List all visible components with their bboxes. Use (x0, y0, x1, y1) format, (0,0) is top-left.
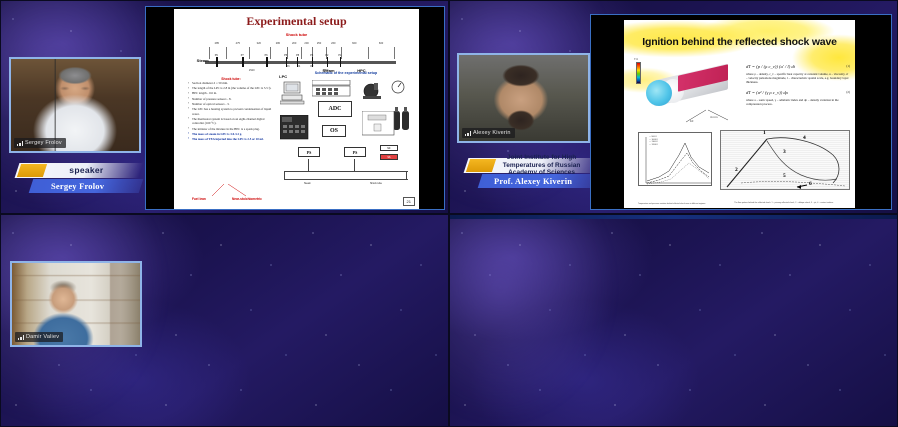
panel-top-right[interactable]: Alexey Kiverin Joint Institute for High … (449, 0, 898, 214)
control-unit-icon (362, 111, 396, 137)
signal-strength-icon (17, 141, 24, 146)
shock-structure-lines (721, 131, 851, 191)
panel-bottom-left[interactable]: Damir Valiev Tsinghua University Prof. D… (0, 214, 449, 427)
svg-text:4 mm: 4 mm (710, 115, 718, 119)
nameplate-speaker-1: speaker Sergey Frolov (17, 163, 141, 193)
list-item: Number of pressure sensors - 8. (188, 97, 274, 102)
starfield-background (450, 215, 897, 426)
equation-2: dT = (a² / (γ ρ c_v)) dρ (746, 90, 788, 95)
nameplate-gold-chip (466, 159, 496, 172)
list-item: The mass of TEA injected into the LPC is… (188, 137, 274, 142)
screen-share-2[interactable]: Ignition behind the reflected shock wave… (590, 14, 892, 210)
webcam-name-label: Damir Valiev (15, 332, 63, 342)
slide-title: Ignition behind the reflected shock wave (624, 36, 855, 48)
figure-note-left: Temperature and pressure variation behin… (638, 203, 712, 205)
dimension-ticks: 285 475 320 280 200 200 250 260 600 600 (205, 47, 396, 59)
equations-block: dT = (p / (ρ c_v)) (u′ / l) dt (1) where… (746, 64, 850, 106)
webcam-label-text: Alexey Kiverin (473, 130, 511, 136)
vacuum-pump-icon (362, 80, 384, 100)
marker-2: 2 (735, 167, 738, 173)
nameplate-affiliation: speaker (50, 167, 141, 175)
screen-share-1[interactable]: Experimental setup Shock tube 285 475 32… (145, 6, 445, 210)
equation-2-number: (2) (846, 90, 850, 94)
signal-strength-icon (18, 335, 25, 340)
slide-ignition-reflected-shock: Ignition behind the reflected shock wave… (624, 20, 855, 208)
webcam-label-text: Damir Valiev (26, 334, 59, 340)
schlieren-image: 1 2 3 4 5 6 (720, 130, 850, 190)
sc-box: SC (380, 145, 398, 151)
tube-axis (205, 61, 396, 64)
list-item: The mass of steam in LPC is 3.0-3.2 g. (188, 132, 274, 137)
nameplate-name: Sergey Frolov (51, 181, 104, 191)
video-conference-grid: Sergey Frolov speaker Sergey Frolov Expe… (0, 0, 898, 427)
adc-box: ADC (318, 101, 352, 117)
bullet-list: Section diameter d = 50 mm. The length o… (188, 81, 274, 141)
equation-1-where: where ρ – density, c_v – specific heat c… (746, 72, 850, 85)
controller-panel-icon (280, 115, 310, 141)
experimental-schematic: Schematic of the experimental setup (278, 71, 414, 201)
ps-box-1: PS (298, 147, 320, 157)
ignition-delay-plot: — 900 K— 1000 K— 1100 K— 1200 K (638, 132, 712, 186)
webcam-name-label: Sergey Frolov (14, 138, 66, 148)
nameplate-affiliation-row: speaker (15, 163, 144, 178)
list-item: The LPC has a heating system to prevent … (188, 107, 274, 116)
figure-note-right: The flow pattern behind the reflected sh… (720, 202, 848, 204)
marker-3: 3 (783, 149, 786, 155)
svg-text:10: 10 (690, 119, 694, 123)
equation-2-where: where a – sonic speed, γ – adiabatic ind… (746, 98, 850, 106)
dimension-arrows: 10 4 mm (684, 108, 732, 126)
computer-icon (280, 81, 306, 105)
webcam-damir-valiev[interactable]: Damir Valiev (10, 261, 142, 347)
bullet-column: Shock tube: Section diameter d = 50 mm. … (188, 77, 274, 142)
3d-tube-visualization: 10 4 mm (640, 64, 736, 126)
panel-bottom-right[interactable]: Ivan Yakovenko Joint Institute for High … (449, 214, 898, 427)
webcam-name-label: Alexey Kiverin (462, 128, 515, 138)
nameplate-affiliation-row: Joint Institute for High Temperatures of… (464, 158, 605, 173)
marker-4: 4 (803, 135, 806, 141)
slide-title: Experimental setup (174, 14, 419, 29)
os-box: OS (322, 125, 346, 137)
nameplate-speaker-2: Joint Institute for High Temperatures of… (466, 158, 602, 188)
footnote-connector (204, 184, 259, 198)
webcam-alexey-kiverin[interactable]: Alexey Kiverin (457, 53, 590, 143)
nameplate-name-row: Sergey Frolov (29, 179, 144, 193)
marker-1: 1 (763, 130, 766, 136)
panel-top-strip (450, 215, 897, 219)
list-item: Number of optical sensors - 3. (188, 102, 274, 107)
pressure-gauge-icon (390, 79, 406, 95)
list-item: The thermostat system is based on an eig… (188, 117, 274, 126)
temperature-colorbar (636, 62, 641, 84)
nameplate-gold-chip (17, 164, 47, 177)
equation-1-number: (1) (846, 64, 850, 68)
list-item: HPC length - 0.6 m. (188, 91, 274, 96)
colorbar-max-label: 7.4 (634, 58, 638, 61)
nameplate-name-row: Prof. Alexey Kiverin (478, 174, 605, 188)
list-item: The length of the LPC is 2.8 m (the volu… (188, 86, 274, 91)
ss-box: SS (380, 154, 398, 160)
schematic-heading: Schematic of the experimental setup (278, 71, 414, 75)
marker-6: 6 (809, 181, 812, 187)
signal-strength-icon (465, 131, 472, 136)
list-item: The initiator of the mixture in the HPC … (188, 127, 274, 132)
webcam-label-text: Sergey Frolov (25, 140, 62, 146)
instrument-rack-icon (312, 80, 352, 98)
list-item: Section diameter d = 50 mm. (188, 81, 274, 86)
equation-1: dT = (p / (ρ c_v)) (u′ / l) dt (746, 64, 795, 69)
nameplate-name: Prof. Alexey Kiverin (494, 176, 572, 186)
nebula-glow (449, 214, 630, 427)
diagram-caption: Shock tube (174, 32, 419, 37)
marker-5: 5 (783, 173, 786, 179)
webcam-sergey-frolov[interactable]: Sergey Frolov (9, 57, 141, 153)
panel-top-left[interactable]: Sergey Frolov speaker Sergey Frolov Expe… (0, 0, 449, 214)
slide-experimental-setup: Experimental setup Shock tube 285 475 32… (174, 9, 419, 209)
ps-box-2: PS (344, 147, 366, 157)
slide-number: 21 (403, 197, 415, 206)
